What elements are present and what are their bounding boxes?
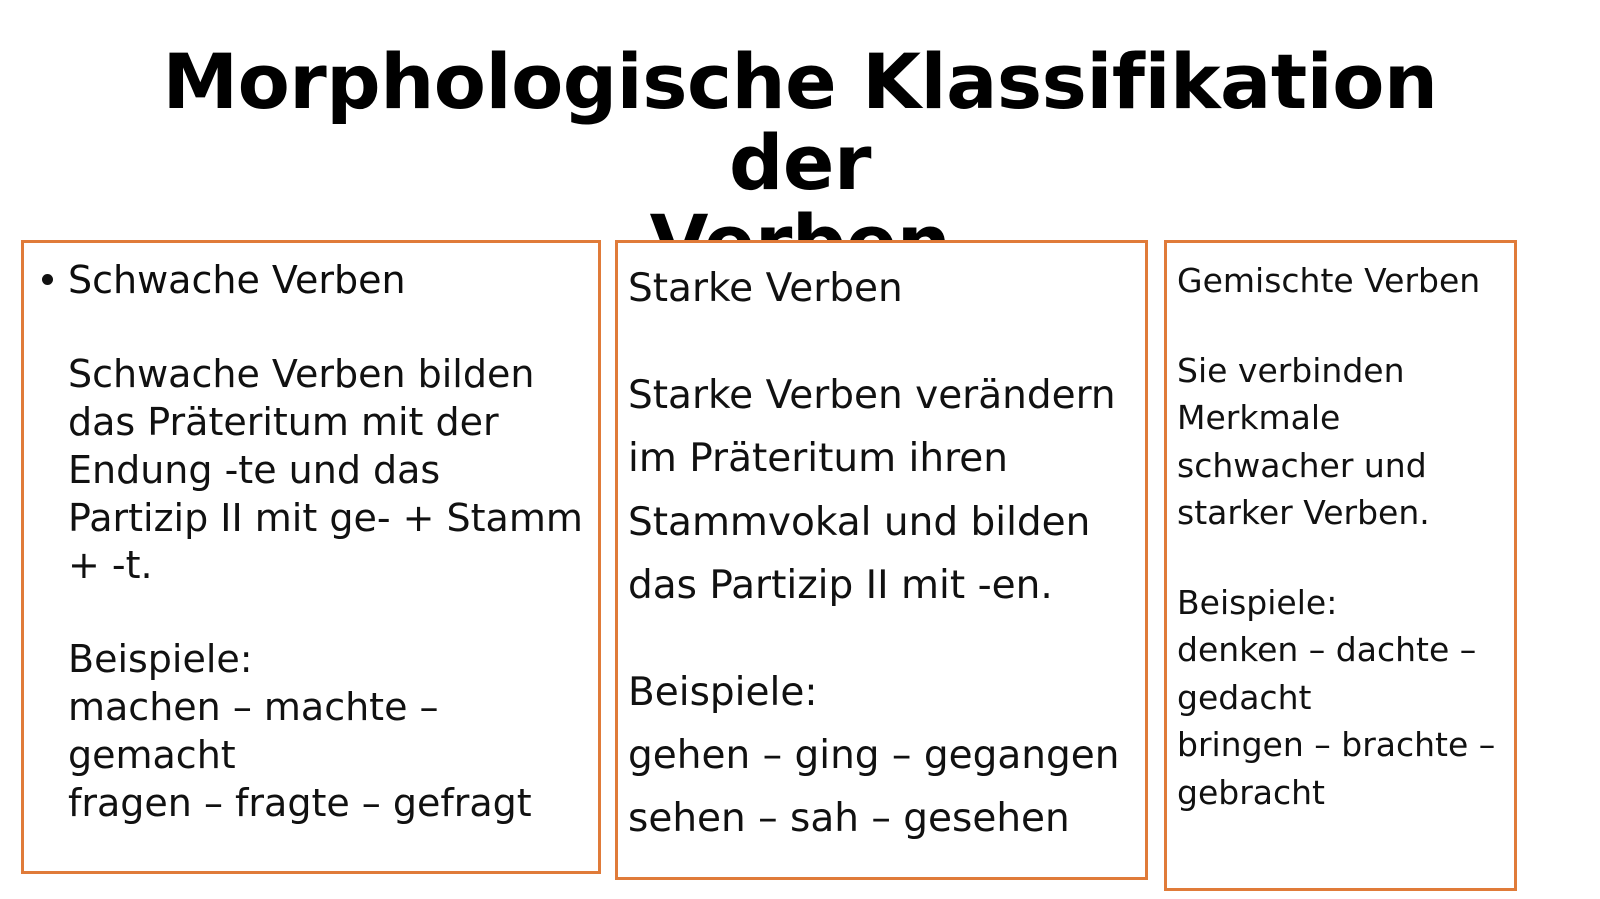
columns-container: Schwache Verben Schwache Verben bilden d… bbox=[0, 0, 1600, 899]
column-card-schwache-verben[interactable]: Schwache Verben Schwache Verben bilden d… bbox=[21, 240, 601, 874]
slide-canvas: Morphologische Klassifikation der Verben… bbox=[0, 0, 1600, 899]
column-content-1: Schwache Verben Schwache Verben bilden d… bbox=[24, 243, 598, 828]
spacer-1b bbox=[34, 590, 588, 636]
example-item-2-0: gehen – ging – gegangen bbox=[628, 724, 1135, 787]
column-heading-1-row: Schwache Verben bbox=[34, 257, 588, 305]
spacer-2b bbox=[628, 617, 1135, 661]
column-card-gemischte-verben[interactable]: Gemischte Verben Sie verbinden Merkmale … bbox=[1164, 240, 1517, 891]
example-item-1-1: fragen – fragte – gefragt bbox=[34, 780, 588, 828]
spacer-2a bbox=[628, 320, 1135, 364]
examples-label-3: Beispiele: bbox=[1177, 579, 1504, 627]
example-item-3-0: denken – dachte – gedacht bbox=[1177, 626, 1504, 721]
spacer-1a bbox=[34, 305, 588, 351]
column-content-3: Gemischte Verben Sie verbinden Merkmale … bbox=[1167, 243, 1514, 816]
examples-label-1: Beispiele: bbox=[34, 636, 588, 684]
bullet-dot-icon bbox=[42, 274, 53, 285]
example-item-2-1: sehen – sah – gesehen bbox=[628, 787, 1135, 850]
column-card-starke-verben[interactable]: Starke Verben Starke Verben verändern im… bbox=[615, 240, 1148, 880]
example-item-3-1: bringen – brachte – gebracht bbox=[1177, 721, 1504, 816]
spacer-3a bbox=[1177, 305, 1504, 347]
column-heading-1: Schwache Verben bbox=[68, 258, 406, 302]
column-heading-3: Gemischte Verben bbox=[1177, 257, 1504, 305]
column-description-2: Starke Verben verändern im Präteritum ih… bbox=[628, 364, 1135, 617]
column-content-2: Starke Verben Starke Verben verändern im… bbox=[618, 243, 1145, 850]
spacer-3b bbox=[1177, 537, 1504, 579]
column-description-3: Sie verbinden Merkmale schwacher und sta… bbox=[1177, 347, 1504, 537]
example-item-1-0: machen – machte – gemacht bbox=[34, 684, 588, 780]
column-heading-2: Starke Verben bbox=[628, 257, 1135, 320]
examples-label-2: Beispiele: bbox=[628, 661, 1135, 724]
column-description-1: Schwache Verben bilden das Präteritum mi… bbox=[34, 351, 588, 590]
